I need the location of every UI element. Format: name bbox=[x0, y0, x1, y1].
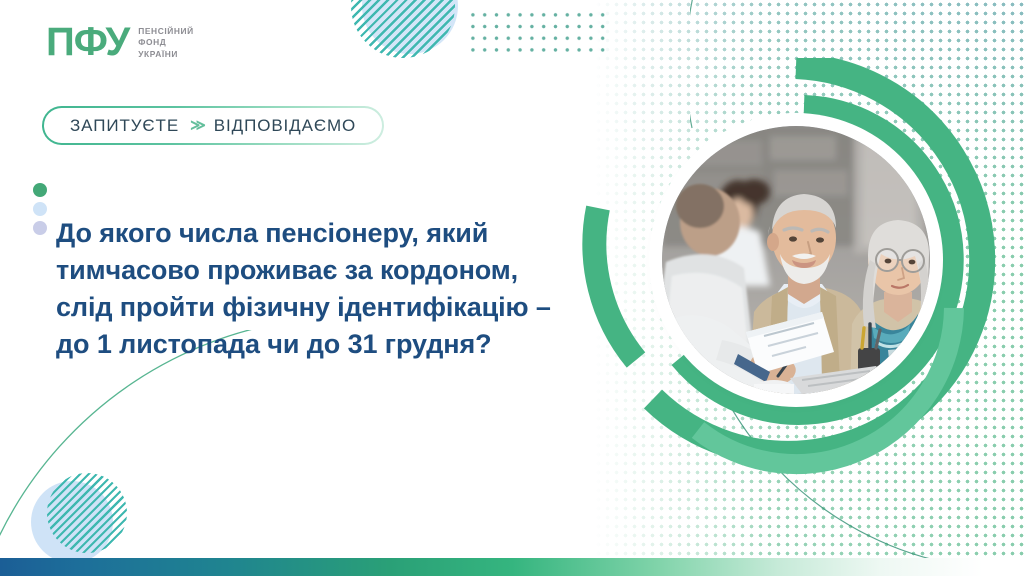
logo-subtitle: ПЕНСІЙНИЙ ФОНД УКРАЇНИ bbox=[138, 25, 194, 60]
logo-subtitle-line-1: ПЕНСІЙНИЙ bbox=[138, 27, 194, 37]
chevron-right-icon: ≫ bbox=[190, 118, 203, 133]
photo-composition bbox=[576, 58, 1024, 528]
top-striped-halfcircle-shape bbox=[351, 0, 455, 58]
logo-subtitle-line-2: ФОНД bbox=[138, 38, 194, 48]
pfu-logo[interactable]: ПФУ ПЕНСІЙНИЙ ФОНД УКРАЇНИ bbox=[46, 22, 194, 62]
logo-mark-text: ПФУ bbox=[46, 22, 129, 62]
page-title: До якого числа пенсіонеру, який тимчасов… bbox=[56, 215, 576, 363]
badge-label-ask: ЗАПИТУЄТЕ bbox=[70, 116, 179, 136]
badge-label-answer: ВІДПОВІДАЄМО bbox=[214, 116, 356, 136]
accent-dot-purple-icon bbox=[33, 221, 47, 235]
consultation-photo bbox=[662, 126, 930, 394]
accent-dot-blue-icon bbox=[33, 202, 47, 216]
headline-line-3: слід пройти фізичну ідентифікацію – bbox=[56, 289, 576, 326]
top-dot-grid-pattern bbox=[467, 9, 605, 54]
headline-line-2: тимчасово проживає за кордоном, bbox=[56, 252, 576, 289]
accent-dot-column bbox=[33, 183, 47, 235]
accent-dot-green-icon bbox=[33, 183, 47, 197]
ask-answer-badge[interactable]: ЗАПИТУЄТЕ ≫ ВІДПОВІДАЄМО bbox=[42, 106, 384, 145]
headline-line-1: До якого числа пенсіонеру, який bbox=[56, 215, 576, 252]
headline-line-4: до 1 листопада чи до 31 грудня? bbox=[56, 326, 576, 363]
bottom-left-striped-circle-shape bbox=[47, 473, 127, 553]
bottom-gradient-bar bbox=[0, 558, 1024, 576]
slide-canvas: ПФУ ПЕНСІЙНИЙ ФОНД УКРАЇНИ ЗАПИТУЄТЕ ≫ В… bbox=[0, 0, 1024, 576]
photo-illustration bbox=[662, 126, 930, 394]
logo-subtitle-line-3: УКРАЇНИ bbox=[138, 50, 194, 60]
